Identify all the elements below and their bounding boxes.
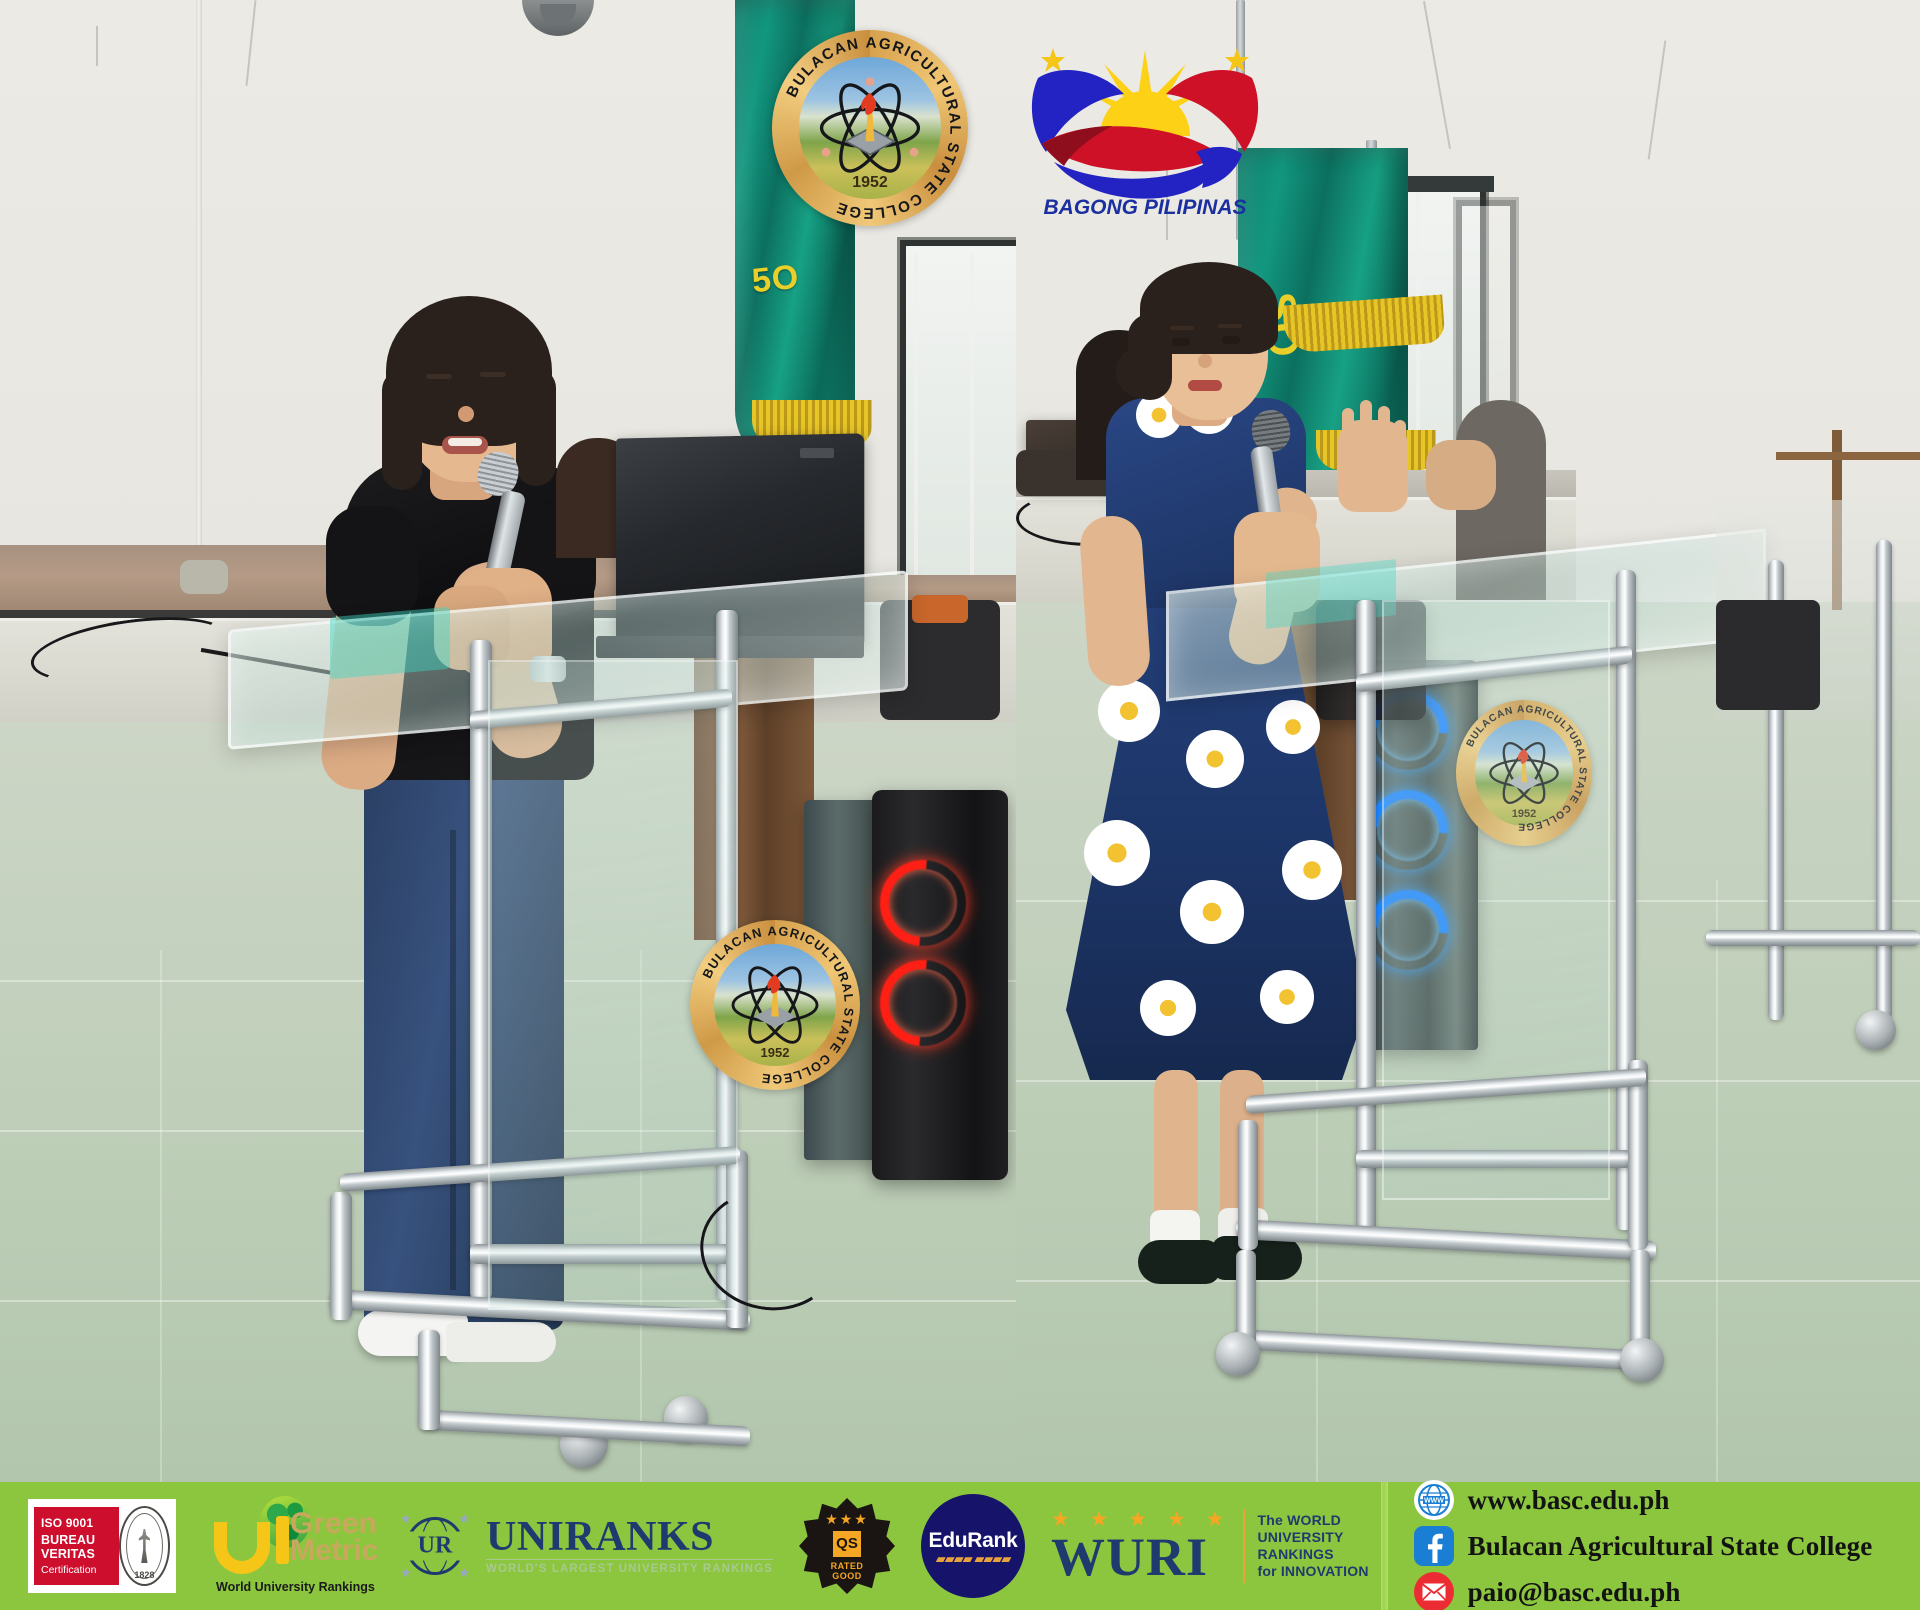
contact-facebook[interactable]: Bulacan Agricultural State College <box>1414 1526 1920 1566</box>
chair-detail <box>912 595 968 623</box>
certification-label: Certification <box>41 1564 119 1576</box>
hair-side <box>382 370 422 490</box>
daisy-motif <box>1140 980 1196 1036</box>
wuri-tagline-line4: for INNOVATION <box>1257 1563 1368 1580</box>
flag-text: 5O <box>750 258 801 302</box>
lectern-caster <box>1216 1332 1260 1376</box>
lectern-caster <box>1620 1338 1664 1382</box>
eye <box>1222 336 1240 344</box>
photo-collage: 5O <box>0 0 1920 1482</box>
qs-mark: QS <box>833 1531 861 1557</box>
basc-seal-ring-text: BULACAN AGRICULTURAL STATE COLLEGE <box>772 30 968 226</box>
eye <box>428 386 448 395</box>
footer-accreditation-logos: ISO 9001 BUREAU VERITAS Certification 18… <box>0 1482 1369 1610</box>
floor-tile-line <box>160 950 162 1482</box>
uniranks-wordmark: UNIRANKS <box>486 1517 773 1557</box>
finger <box>1360 400 1372 448</box>
contact-email[interactable]: paio@basc.edu.ph <box>1414 1572 1920 1610</box>
footer-divider <box>1381 1482 1388 1610</box>
greenmetric-wordmark: Green Metric <box>290 1510 378 1564</box>
edurank-wordmark: EduRank <box>929 1529 1018 1553</box>
svg-text:WWW: WWW <box>1424 1498 1444 1505</box>
daisy-motif <box>1084 820 1150 886</box>
qs-rated-line1: RATED <box>825 1561 869 1571</box>
bv-year: 1828 <box>121 1570 168 1580</box>
basc-seal-ring-text: BULACAN AGRICULTURAL STATE COLLEGE <box>690 920 860 1090</box>
globe-www-icon: WWW <box>1414 1480 1454 1520</box>
lectern-leg <box>1628 1060 1648 1250</box>
photo-right-speaker-at-podium: SO BU <box>1016 0 1920 1482</box>
rail-post <box>1876 540 1892 1020</box>
lectern-leg <box>1238 1120 1258 1250</box>
wuri-tagline-line1: The WORLD <box>1257 1512 1368 1529</box>
ui-i-mark <box>276 1516 289 1564</box>
finger <box>1394 420 1406 454</box>
bureau-veritas-seal-icon: 1828 <box>119 1506 170 1586</box>
finger <box>1342 408 1354 448</box>
uniranks-badge-icon: UR ★ ★ ★ ★ <box>398 1509 472 1583</box>
uniranks-badge-letters: UR <box>398 1532 472 1561</box>
sleeve <box>326 506 418 626</box>
bureau-veritas-label: BUREAU VERITAS <box>41 1533 119 1561</box>
wall-column-edge <box>196 0 202 620</box>
equipment-case <box>1716 600 1820 710</box>
eye <box>484 384 504 393</box>
greenmetric-line2: Metric <box>290 1537 378 1564</box>
shoe <box>446 1322 556 1362</box>
leg <box>1154 1070 1198 1230</box>
wuri-divider <box>1243 1509 1245 1583</box>
poster-canvas: 5O <box>0 0 1920 1610</box>
eyebrow <box>1218 324 1242 328</box>
mouth <box>1188 380 1222 391</box>
laptop-brand-badge <box>800 448 834 458</box>
uniranks-tagline: WORLD'S LARGEST UNIVERSITY RANKINGS <box>486 1559 773 1575</box>
star-icon: ★ <box>400 1511 412 1527</box>
photo-left-speaker-at-podium: 5O <box>0 0 1016 1482</box>
shoe <box>1138 1240 1220 1284</box>
basc-seal-on-lectern: 1952 BULACAN AGRICULTURAL STATE COLLEGE <box>690 920 860 1090</box>
iso-standard-label: ISO 9001 <box>41 1516 119 1530</box>
qs-badge-content: ★★★ QS RATED GOOD <box>825 1512 869 1581</box>
lectern-foot-leg <box>418 1330 440 1430</box>
hair-bun <box>1116 346 1168 398</box>
email-address: paio@basc.edu.ph <box>1468 1577 1681 1608</box>
footer-contacts: WWW www.basc.edu.ph Bulacan Agricultural… <box>1400 1480 1920 1610</box>
svg-text:BULACAN AGRICULTURAL STATE COL: BULACAN AGRICULTURAL STATE COLLEGE <box>783 35 963 222</box>
eyebrow <box>480 372 506 377</box>
contact-website[interactable]: WWW www.basc.edu.ph <box>1414 1480 1920 1520</box>
daisy-motif <box>1266 700 1320 754</box>
star-icon: ★ <box>400 1565 412 1581</box>
lectern-post <box>1356 600 1376 1240</box>
eyebrow <box>426 374 452 379</box>
teeth <box>448 438 482 446</box>
wall-crack <box>96 26 98 66</box>
edurank-logo: EduRank ▰▰▰▰ ▰▰▰▰ <box>921 1494 1025 1598</box>
iso-bureau-veritas-logo: ISO 9001 BUREAU VERITAS Certification 18… <box>28 1499 176 1593</box>
greenmetric-tagline: World University Rankings <box>216 1580 375 1594</box>
floor-tile-line <box>1716 880 1718 1482</box>
wuri-tagline-line2: UNIVERSITY <box>1257 1529 1368 1546</box>
caster <box>1856 1010 1896 1050</box>
facebook-page-name: Bulacan Agricultural State College <box>1468 1531 1873 1562</box>
bagong-pilipinas-logo: BAGONG PILIPINAS <box>1020 26 1270 216</box>
background-person-hand <box>1426 440 1496 510</box>
wuri-tagline: The WORLD UNIVERSITY RANKINGS for INNOVA… <box>1257 1512 1368 1580</box>
lectern-glass-tint <box>330 607 450 679</box>
basc-seal-header: 1952 BULACAN AGRICULTURAL STATE COLLEGE <box>772 30 968 226</box>
bagong-pilipinas-label: BAGONG PILIPINAS <box>1043 196 1246 216</box>
ui-u-mark <box>214 1522 270 1574</box>
star-icon: ★ <box>458 1511 470 1527</box>
railing-rail <box>1776 452 1920 460</box>
qs-rated-good-badge: ★★★ QS RATED GOOD <box>799 1498 895 1594</box>
ui-greenmetric-logo: Green Metric World University Rankings <box>202 1494 372 1598</box>
wheat-ornament-icon: ▰▰▰▰ ▰▰▰▰ <box>936 1553 1011 1564</box>
wuri-mark: ★ ★ ★ ★ ★ WURI <box>1051 1509 1231 1583</box>
qs-rated-line2: GOOD <box>825 1571 869 1581</box>
qs-stars: ★★★ <box>825 1512 869 1526</box>
daisy-motif <box>1282 840 1342 900</box>
greenmetric-line1: Green <box>290 1510 378 1537</box>
daisy-motif <box>1260 970 1314 1024</box>
website-url: www.basc.edu.ph <box>1468 1485 1670 1516</box>
wuri-tagline-line3: RANKINGS <box>1257 1546 1368 1563</box>
speaker-person <box>1076 280 1396 1380</box>
footer-bar: ISO 9001 BUREAU VERITAS Certification 18… <box>0 1482 1920 1610</box>
daisy-motif <box>1098 680 1160 742</box>
rail-bar <box>1706 930 1920 946</box>
star-icon: ★ <box>458 1565 470 1581</box>
facebook-icon <box>1414 1526 1454 1566</box>
nose <box>1198 354 1212 368</box>
eye <box>1172 338 1190 346</box>
lectern-leg <box>330 1192 352 1320</box>
lectern-front-panel <box>1382 600 1610 1200</box>
trouser-seam <box>450 830 456 1290</box>
nose <box>458 406 474 422</box>
finger <box>1378 406 1390 450</box>
daisy-motif <box>1180 880 1244 944</box>
envelope-icon <box>1414 1572 1454 1610</box>
lectern-foot-leg <box>1630 1250 1650 1350</box>
uniranks-logo: UR ★ ★ ★ ★ UNIRANKS WORLD'S LARGEST UNIV… <box>398 1509 773 1583</box>
stage-object <box>180 560 228 594</box>
daisy-motif <box>1186 730 1244 788</box>
eyebrow <box>1170 326 1194 330</box>
arm-left <box>1078 514 1152 688</box>
iso-red-panel: ISO 9001 BUREAU VERITAS Certification <box>34 1507 119 1585</box>
wuri-wordmark: WURI <box>1051 1531 1208 1583</box>
bagong-pilipinas-mark: BAGONG PILIPINAS <box>1020 26 1270 216</box>
wuri-logo: ★ ★ ★ ★ ★ WURI The WORLD UNIVERSITY RANK… <box>1051 1509 1369 1583</box>
svg-text:BULACAN AGRICULTURAL STATE COL: BULACAN AGRICULTURAL STATE COLLEGE <box>699 923 857 1087</box>
hair-side <box>516 368 556 486</box>
